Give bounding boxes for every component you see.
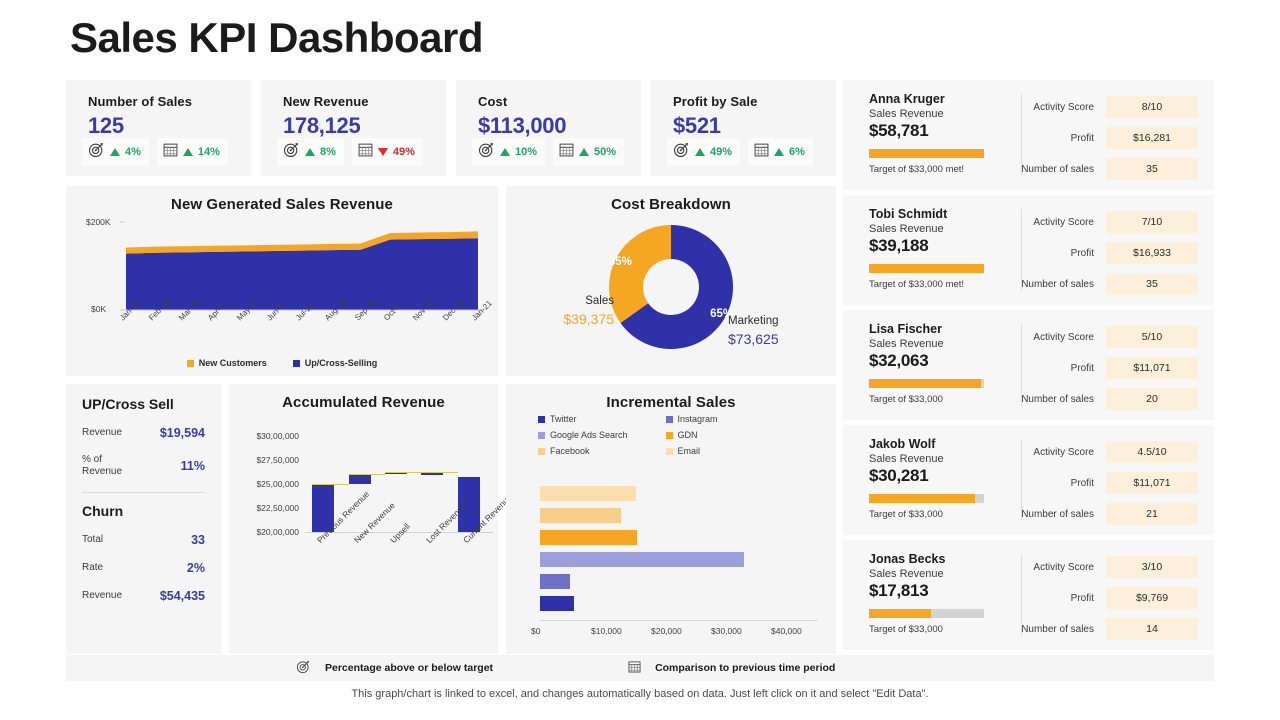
x-tick-label: Jan-20 bbox=[118, 299, 142, 323]
accumulated-revenue-panel: Accumulated Revenue $20,00,000$22,50,000… bbox=[229, 384, 498, 654]
rep-metric-value: 8/10 bbox=[1106, 96, 1198, 118]
kpi-card-1: New Revenue178,1258%49% bbox=[261, 80, 446, 176]
kpi-chip-1: 49% bbox=[352, 138, 423, 166]
x-tick-label: Jan-21 bbox=[470, 299, 494, 323]
rep-revenue: $39,188 bbox=[869, 236, 993, 256]
legend-swatch bbox=[538, 416, 545, 423]
incremental-sales-bar bbox=[540, 574, 570, 589]
waterfall-connector bbox=[421, 472, 457, 473]
cost-breakdown-panel: Cost Breakdown 65%35% Sales $39,375 Mark… bbox=[506, 186, 836, 376]
rep-metric-row: Activity Score7/10 bbox=[1013, 211, 1198, 233]
metric-key: Revenue bbox=[82, 427, 122, 439]
chart-title: Accumulated Revenue bbox=[229, 384, 498, 411]
metric-row: % ofRevenue11% bbox=[66, 454, 221, 478]
kpi-value: 178,125 bbox=[283, 113, 446, 139]
sales-rep-card[interactable]: Lisa FischerSales Revenue$32,063Target o… bbox=[843, 310, 1214, 420]
rep-progress-fill bbox=[869, 494, 975, 503]
x-tick-label: Feb-20 bbox=[147, 298, 171, 322]
rep-target-text: Target of $33,000 met! bbox=[869, 279, 993, 290]
rep-progress-fill bbox=[869, 609, 931, 618]
calendar-icon bbox=[559, 142, 574, 162]
y-tick-label: $20,00,000 bbox=[233, 527, 299, 537]
kpi-chip-percent: 8% bbox=[320, 146, 336, 158]
legend-label: New Customers bbox=[199, 358, 267, 368]
kpi-chip-0: 49% bbox=[667, 138, 740, 166]
rep-progress-fill bbox=[869, 264, 984, 273]
rep-metric-value: $9,769 bbox=[1106, 587, 1198, 609]
churn-rows: Total33Rate2%Revenue$54,435 bbox=[66, 533, 221, 603]
triangle-up-icon bbox=[183, 148, 193, 156]
kpi-strip: Number of Sales1254%14%New Revenue178,12… bbox=[66, 80, 836, 176]
legend-label: Up/Cross-Selling bbox=[305, 358, 378, 368]
kpi-card-0: Number of Sales1254%14% bbox=[66, 80, 251, 176]
x-tick-label: May-20 bbox=[235, 297, 260, 322]
kpi-chip-percent: 10% bbox=[515, 146, 537, 158]
triangle-up-icon bbox=[110, 148, 120, 156]
rep-metric-value: 20 bbox=[1106, 388, 1198, 410]
rep-metric-row: Activity Score3/10 bbox=[1013, 556, 1198, 578]
metric-key: % ofRevenue bbox=[82, 454, 122, 478]
kpi-chip-group: 49%6% bbox=[667, 138, 813, 166]
kpi-chip-group: 8%49% bbox=[277, 138, 423, 166]
rep-metric-key: Number of sales bbox=[1021, 394, 1106, 405]
target-icon bbox=[283, 141, 300, 163]
rep-progress-fill bbox=[869, 379, 981, 388]
kpi-chip-0: 8% bbox=[277, 138, 344, 166]
x-tick-label: Sep-20 bbox=[353, 298, 378, 323]
divider bbox=[1021, 554, 1022, 636]
rep-subtitle: Sales Revenue bbox=[869, 338, 993, 350]
triangle-up-icon bbox=[695, 148, 705, 156]
churn-title: Churn bbox=[66, 493, 221, 519]
rep-metric-row: Number of sales20 bbox=[1013, 388, 1198, 410]
incremental-sales-panel: Incremental Sales TwitterInstagramGoogle… bbox=[506, 384, 836, 654]
rep-metric-row: Number of sales35 bbox=[1013, 273, 1198, 295]
metric-row: Total33 bbox=[66, 533, 221, 547]
edit-data-note: This graph/chart is linked to excel, and… bbox=[0, 688, 1280, 700]
rep-metric-row: Number of sales21 bbox=[1013, 503, 1198, 525]
rep-metric-value: 7/10 bbox=[1106, 211, 1198, 233]
x-tick-label: $40,000 bbox=[771, 626, 802, 636]
kpi-chip-group: 10%50% bbox=[472, 138, 624, 166]
x-tick-label: Nov-20 bbox=[411, 298, 436, 323]
rep-metric-row: Number of sales14 bbox=[1013, 618, 1198, 640]
rep-target-text: Target of $33,000 bbox=[869, 509, 993, 520]
calendar-icon bbox=[754, 142, 769, 162]
rep-metric-value: 5/10 bbox=[1106, 326, 1198, 348]
rep-metric-row: Activity Score4.5/10 bbox=[1013, 441, 1198, 463]
rep-subtitle: Sales Revenue bbox=[869, 108, 993, 120]
rep-name: Lisa Fischer bbox=[869, 322, 993, 336]
kpi-value: $113,000 bbox=[478, 113, 641, 139]
legend-swatch bbox=[538, 448, 545, 455]
footer-target-legend: Percentage above or below target bbox=[296, 659, 493, 677]
kpi-chip-percent: 50% bbox=[594, 146, 616, 158]
legend-label: Google Ads Search bbox=[550, 430, 628, 440]
rep-metric-key: Profit bbox=[1071, 478, 1106, 489]
legend-item: Facebook bbox=[538, 446, 666, 456]
rep-metric-value: 35 bbox=[1106, 158, 1198, 180]
y-tick-label: $22,50,000 bbox=[233, 503, 299, 513]
rep-summary: Lisa FischerSales Revenue$32,063Target o… bbox=[843, 310, 993, 420]
rep-metrics: Activity Score8/10Profit$16,281Number of… bbox=[993, 80, 1214, 190]
dashboard-page: Sales KPI Dashboard Number of Sales1254%… bbox=[0, 0, 1280, 720]
rep-metric-value: 4.5/10 bbox=[1106, 441, 1198, 463]
rep-metric-key: Number of sales bbox=[1021, 164, 1106, 175]
kpi-card-2: Cost$113,00010%50% bbox=[456, 80, 641, 176]
incremental-sales-bar bbox=[540, 486, 636, 501]
rep-progress-track bbox=[869, 609, 984, 618]
rep-progress-track bbox=[869, 149, 984, 158]
legend-swatch bbox=[666, 448, 673, 455]
metric-value: 11% bbox=[181, 459, 205, 473]
kpi-chip-1: 14% bbox=[157, 138, 228, 166]
x-tick-label: Oct-20 bbox=[382, 299, 405, 322]
incremental-sales-bar bbox=[540, 596, 574, 611]
legend-item: Email bbox=[666, 446, 794, 456]
divider bbox=[1021, 94, 1022, 176]
rep-metric-key: Activity Score bbox=[1033, 217, 1106, 228]
rep-name: Tobi Schmidt bbox=[869, 207, 993, 221]
kpi-label: Profit by Sale bbox=[673, 94, 836, 109]
new-generated-sales-revenue-panel: New Generated Sales Revenue $200K $0K Ja… bbox=[66, 186, 498, 376]
sales-rep-card[interactable]: Anna KrugerSales Revenue$58,781Target of… bbox=[843, 80, 1214, 190]
rep-metric-row: Profit$9,769 bbox=[1013, 587, 1198, 609]
legend-label: Instagram bbox=[678, 414, 718, 424]
rep-metric-row: Profit$16,281 bbox=[1013, 127, 1198, 149]
rep-metric-row: Profit$11,071 bbox=[1013, 472, 1198, 494]
x-tick-label: Apr-20 bbox=[206, 299, 229, 322]
footer-calendar-text: Comparison to previous time period bbox=[655, 662, 835, 674]
rep-progress-fill bbox=[869, 149, 984, 158]
legend-item: New Customers bbox=[187, 358, 267, 368]
rep-metric-row: Activity Score8/10 bbox=[1013, 96, 1198, 118]
divider bbox=[1021, 324, 1022, 406]
sales-rep-list: Anna KrugerSales Revenue$58,781Target of… bbox=[843, 80, 1214, 654]
rep-metric-value: 14 bbox=[1106, 618, 1198, 640]
legend-label: Email bbox=[678, 446, 701, 456]
kpi-chip-percent: 49% bbox=[393, 146, 415, 158]
y-tick-label: $25,00,000 bbox=[233, 479, 299, 489]
chart-title: Incremental Sales bbox=[506, 384, 836, 411]
rep-metrics: Activity Score7/10Profit$16,933Number of… bbox=[993, 195, 1214, 305]
rep-summary: Jonas BecksSales Revenue$17,813Target of… bbox=[843, 540, 993, 650]
footer-target-text: Percentage above or below target bbox=[325, 662, 493, 674]
incremental-sales-bar bbox=[540, 508, 621, 523]
x-tick-label: Upsell bbox=[388, 521, 412, 545]
rep-name: Anna Kruger bbox=[869, 92, 993, 106]
rep-revenue: $32,063 bbox=[869, 351, 993, 371]
upsell-title: UP/Cross Sell bbox=[66, 384, 221, 412]
rep-metrics: Activity Score4.5/10Profit$11,071Number … bbox=[993, 425, 1214, 535]
metric-row: Rate2% bbox=[66, 561, 221, 575]
kpi-label: Number of Sales bbox=[88, 94, 251, 109]
rep-subtitle: Sales Revenue bbox=[869, 453, 993, 465]
rep-metric-row: Profit$16,933 bbox=[1013, 242, 1198, 264]
kpi-chip-group: 4%14% bbox=[82, 138, 228, 166]
metric-value: 2% bbox=[187, 561, 205, 575]
x-tick-label: Aug-20 bbox=[323, 298, 348, 323]
rep-metric-key: Activity Score bbox=[1033, 562, 1106, 573]
rep-metric-row: Number of sales35 bbox=[1013, 158, 1198, 180]
waterfall-connector bbox=[312, 484, 348, 485]
sales-rep-card[interactable]: Jakob WolfSales Revenue$30,281Target of … bbox=[843, 425, 1214, 535]
donut-marketing-value: $73,625 bbox=[728, 330, 826, 349]
legend-item: Google Ads Search bbox=[538, 430, 666, 440]
rep-metric-value: $16,933 bbox=[1106, 242, 1198, 264]
donut-label-marketing: Marketing $73,625 bbox=[728, 314, 826, 348]
waterfall-connector bbox=[349, 474, 385, 475]
donut-sales-value: $39,375 bbox=[522, 310, 614, 329]
page-title: Sales KPI Dashboard bbox=[70, 14, 483, 62]
legend-swatch bbox=[538, 432, 545, 439]
legend-swatch bbox=[666, 432, 673, 439]
kpi-chip-percent: 49% bbox=[710, 146, 732, 158]
waterfall-connector bbox=[385, 472, 421, 473]
kpi-value: 125 bbox=[88, 113, 251, 139]
rep-metric-key: Profit bbox=[1071, 363, 1106, 374]
x-tick-label: Mar-20 bbox=[177, 298, 201, 322]
incremental-sales-legend: TwitterInstagramGoogle Ads SearchGDNFace… bbox=[538, 414, 793, 456]
metric-value: $54,435 bbox=[160, 589, 205, 603]
rep-metric-key: Profit bbox=[1071, 133, 1106, 144]
legend-item: Up/Cross-Selling bbox=[293, 358, 378, 368]
triangle-up-icon bbox=[774, 148, 784, 156]
legend-item: Twitter bbox=[538, 414, 666, 424]
rep-progress-track bbox=[869, 494, 984, 503]
x-tick-label: $10,000 bbox=[591, 626, 622, 636]
chart-title: Cost Breakdown bbox=[506, 186, 836, 213]
kpi-chip-0: 10% bbox=[472, 138, 545, 166]
rep-progress-track bbox=[869, 264, 984, 273]
y-tick-min: $0K bbox=[91, 304, 106, 314]
rep-metric-value: 3/10 bbox=[1106, 556, 1198, 578]
rep-progress-track bbox=[869, 379, 984, 388]
calendar-icon bbox=[163, 142, 178, 162]
rep-metric-key: Profit bbox=[1071, 248, 1106, 259]
rep-revenue: $17,813 bbox=[869, 581, 993, 601]
rep-metrics: Activity Score3/10Profit$9,769Number of … bbox=[993, 540, 1214, 650]
rep-target-text: Target of $33,000 bbox=[869, 394, 993, 405]
kpi-chip-percent: 14% bbox=[198, 146, 220, 158]
metric-value: 33 bbox=[191, 533, 205, 547]
metric-row: Revenue$19,594 bbox=[66, 426, 221, 440]
kpi-chip-1: 50% bbox=[553, 138, 624, 166]
rep-metric-key: Activity Score bbox=[1033, 332, 1106, 343]
donut-marketing-name: Marketing bbox=[728, 314, 826, 330]
rep-metric-key: Number of sales bbox=[1021, 279, 1106, 290]
legend-swatch bbox=[187, 360, 194, 367]
rep-revenue: $30,281 bbox=[869, 466, 993, 486]
upsell-churn-panel: UP/Cross Sell Revenue$19,594% ofRevenue1… bbox=[66, 384, 221, 654]
incremental-sales-bar bbox=[540, 530, 637, 545]
x-tick-label: $0 bbox=[531, 626, 540, 636]
kpi-chip-0: 4% bbox=[82, 138, 149, 166]
rep-name: Jakob Wolf bbox=[869, 437, 993, 451]
kpi-label: New Revenue bbox=[283, 94, 446, 109]
triangle-up-icon bbox=[305, 148, 315, 156]
legend-swatch bbox=[293, 360, 300, 367]
legend-item: GDN bbox=[666, 430, 794, 440]
target-icon bbox=[88, 141, 105, 163]
rep-summary: Anna KrugerSales Revenue$58,781Target of… bbox=[843, 80, 993, 190]
kpi-chip-percent: 6% bbox=[789, 146, 805, 158]
upsell-rows: Revenue$19,594% ofRevenue11% bbox=[66, 426, 221, 478]
rep-metric-value: $11,071 bbox=[1106, 357, 1198, 379]
chart-title: New Generated Sales Revenue bbox=[66, 186, 498, 213]
donut-percent-label: 35% bbox=[609, 256, 632, 268]
footer-calendar-legend: Comparison to previous time period bbox=[628, 660, 835, 676]
rep-metric-value: $16,281 bbox=[1106, 127, 1198, 149]
legend-swatch bbox=[666, 416, 673, 423]
x-tick-label: $30,000 bbox=[711, 626, 742, 636]
calendar-icon bbox=[358, 142, 373, 162]
metric-row: Revenue$54,435 bbox=[66, 589, 221, 603]
rep-metrics: Activity Score5/10Profit$11,071Number of… bbox=[993, 310, 1214, 420]
metric-value: $19,594 bbox=[160, 426, 205, 440]
rep-metric-key: Activity Score bbox=[1033, 102, 1106, 113]
x-tick-label: Dec-20 bbox=[441, 298, 466, 323]
rep-metric-value: 35 bbox=[1106, 273, 1198, 295]
rep-target-text: Target of $33,000 bbox=[869, 624, 993, 635]
rep-revenue: $58,781 bbox=[869, 121, 993, 141]
rep-summary: Jakob WolfSales Revenue$30,281Target of … bbox=[843, 425, 993, 535]
incremental-sales-bar bbox=[540, 552, 744, 567]
legend-label: Twitter bbox=[550, 414, 577, 424]
metric-key: Rate bbox=[82, 562, 103, 574]
rep-metric-key: Activity Score bbox=[1033, 447, 1106, 458]
rep-metric-value: 21 bbox=[1106, 503, 1198, 525]
divider bbox=[1021, 439, 1022, 521]
kpi-value: $521 bbox=[673, 113, 836, 139]
area-chart-legend: New CustomersUp/Cross-Selling bbox=[66, 358, 498, 368]
rep-metric-value: $11,071 bbox=[1106, 472, 1198, 494]
sales-rep-card[interactable]: Jonas BecksSales Revenue$17,813Target of… bbox=[843, 540, 1214, 650]
rep-subtitle: Sales Revenue bbox=[869, 568, 993, 580]
metric-key: Total bbox=[82, 534, 103, 546]
calendar-icon bbox=[628, 660, 641, 676]
divider bbox=[1021, 209, 1022, 291]
target-icon bbox=[673, 141, 690, 163]
rep-metric-key: Number of sales bbox=[1021, 624, 1106, 635]
x-tick-label: $20,000 bbox=[651, 626, 682, 636]
rep-target-text: Target of $33,000 met! bbox=[869, 164, 993, 175]
legend-footer: Percentage above or below target Compari… bbox=[66, 655, 1214, 681]
y-tick-label: $27,50,000 bbox=[233, 455, 299, 465]
area-chart-svg bbox=[66, 186, 498, 376]
rep-metric-key: Number of sales bbox=[1021, 509, 1106, 520]
target-icon bbox=[478, 141, 495, 163]
target-icon bbox=[296, 659, 311, 677]
rep-summary: Tobi SchmidtSales Revenue$39,188Target o… bbox=[843, 195, 993, 305]
x-tick-label: Jun-20 bbox=[265, 299, 289, 323]
triangle-up-icon bbox=[500, 148, 510, 156]
y-tick-label: $30,00,000 bbox=[233, 431, 299, 441]
waterfall-bar bbox=[349, 474, 371, 484]
legend-item: Instagram bbox=[666, 414, 794, 424]
triangle-down-icon bbox=[378, 148, 388, 156]
sales-rep-card[interactable]: Tobi SchmidtSales Revenue$39,188Target o… bbox=[843, 195, 1214, 305]
y-tick-max: $200K bbox=[86, 217, 111, 227]
donut-sales-name: Sales bbox=[522, 294, 614, 310]
metric-key: Revenue bbox=[82, 590, 122, 602]
rep-metric-row: Profit$11,071 bbox=[1013, 357, 1198, 379]
triangle-up-icon bbox=[579, 148, 589, 156]
legend-label: GDN bbox=[678, 430, 698, 440]
rep-subtitle: Sales Revenue bbox=[869, 223, 993, 235]
legend-label: Facebook bbox=[550, 446, 590, 456]
incremental-axis-line bbox=[540, 620, 818, 621]
rep-name: Jonas Becks bbox=[869, 552, 993, 566]
kpi-chip-percent: 4% bbox=[125, 146, 141, 158]
kpi-chip-1: 6% bbox=[748, 138, 813, 166]
rep-metric-row: Activity Score5/10 bbox=[1013, 326, 1198, 348]
donut-slice bbox=[609, 225, 671, 323]
kpi-card-3: Profit by Sale$52149%6% bbox=[651, 80, 836, 176]
rep-metric-key: Profit bbox=[1071, 593, 1106, 604]
donut-label-sales: Sales $39,375 bbox=[522, 294, 614, 328]
x-tick-label: Jul-20 bbox=[294, 301, 316, 323]
kpi-label: Cost bbox=[478, 94, 641, 109]
